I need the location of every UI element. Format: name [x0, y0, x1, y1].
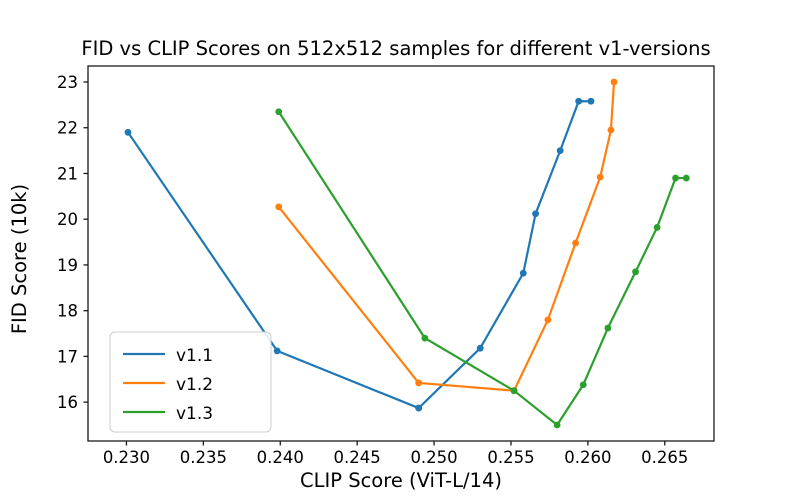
chart-figure: FID vs CLIP Scores on 512x512 samples fo… — [0, 0, 792, 504]
series-line — [279, 82, 614, 391]
data-point — [672, 175, 679, 182]
data-point — [275, 108, 282, 115]
series-v1.3 — [275, 108, 689, 428]
x-tick-label: 0.230 — [103, 448, 150, 467]
legend-label-v1.3: v1.3 — [176, 404, 213, 424]
y-tick-label: 21 — [57, 164, 78, 183]
data-point — [532, 210, 539, 217]
data-point — [611, 79, 618, 86]
x-tick-label: 0.250 — [410, 448, 457, 467]
chart-legend[interactable]: v1.1v1.2v1.3 — [110, 332, 271, 432]
data-point — [511, 387, 518, 394]
y-tick-label: 19 — [57, 256, 78, 275]
x-axis-label: CLIP Score (ViT-L/14) — [300, 469, 502, 492]
legend-label-v1.2: v1.2 — [176, 375, 213, 395]
chart-title: FID vs CLIP Scores on 512x512 samples fo… — [81, 37, 710, 60]
data-point — [554, 422, 561, 429]
x-axis-ticks: 0.2300.2350.2400.2450.2500.2550.2600.265 — [103, 441, 689, 467]
chart-canvas: FID vs CLIP Scores on 512x512 samples fo… — [0, 0, 792, 504]
data-point — [544, 316, 551, 323]
data-point — [572, 240, 579, 247]
x-tick-label: 0.265 — [641, 448, 688, 467]
data-point — [520, 270, 527, 277]
x-tick-label: 0.245 — [334, 448, 381, 467]
y-tick-label: 18 — [57, 302, 78, 321]
legend-label-v1.1: v1.1 — [176, 346, 213, 366]
data-point — [275, 203, 282, 210]
y-tick-label: 17 — [57, 347, 78, 366]
series-v1.2 — [275, 79, 617, 394]
y-tick-label: 16 — [57, 393, 78, 412]
data-point — [683, 175, 690, 182]
y-tick-label: 22 — [57, 119, 78, 138]
data-point — [557, 147, 564, 154]
data-point — [477, 345, 484, 352]
data-point — [604, 325, 611, 332]
data-point — [415, 380, 422, 387]
data-point — [125, 129, 132, 136]
data-point — [608, 127, 615, 134]
data-point — [421, 335, 428, 342]
data-point — [632, 268, 639, 275]
x-tick-label: 0.240 — [257, 448, 304, 467]
x-tick-label: 0.235 — [180, 448, 227, 467]
y-tick-label: 23 — [57, 73, 78, 92]
y-axis-label: FID Score (10k) — [8, 184, 31, 334]
data-point — [415, 405, 422, 412]
y-tick-label: 20 — [57, 210, 78, 229]
y-axis-ticks: 1617181920212223 — [57, 73, 88, 412]
data-point — [588, 98, 595, 105]
x-tick-label: 0.260 — [564, 448, 611, 467]
x-tick-label: 0.255 — [487, 448, 534, 467]
data-point — [575, 98, 582, 105]
series-line — [279, 112, 687, 425]
data-point — [274, 348, 281, 355]
data-point — [597, 174, 604, 181]
data-point — [580, 381, 587, 388]
data-point — [654, 224, 661, 231]
